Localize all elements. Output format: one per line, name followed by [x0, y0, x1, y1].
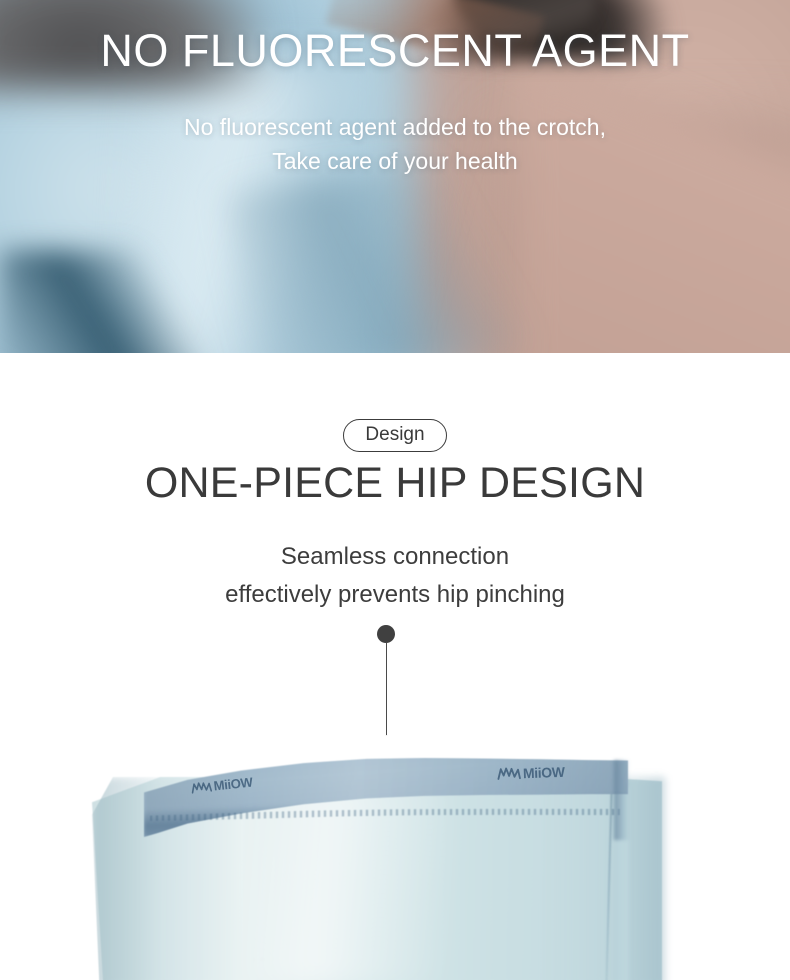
brand-logo-right: MiiOW: [497, 765, 565, 781]
design-subtitle: Seamless connection effectively prevents…: [0, 538, 790, 614]
hero-subtitle: No fluorescent agent added to the crotch…: [0, 110, 790, 178]
design-heading: ONE-PIECE HIP DESIGN: [0, 459, 790, 508]
brand-logo-left-text: MiiOW: [213, 775, 253, 792]
hero-banner: NO FLUORESCENT AGENT No fluorescent agen…: [0, 0, 790, 353]
garment-waistband-right-edge: [614, 760, 630, 840]
hero-title: NO FLUORESCENT AGENT: [0, 27, 790, 76]
miiow-cat-mark-icon: [190, 780, 212, 794]
product-photo: [0, 735, 790, 980]
brand-logo-right-text: MiiOW: [523, 765, 565, 780]
miiow-cat-mark-icon: [497, 766, 521, 781]
design-subtitle-line-2: effectively prevents hip pinching: [0, 576, 790, 614]
garment-shadow-right: [540, 777, 665, 980]
photo-layer-fabric-crease: [0, 250, 200, 353]
design-badge-wrap: Design: [0, 419, 790, 452]
design-badge: Design: [343, 419, 446, 452]
callout-dot-icon: [377, 625, 395, 643]
hero-subtitle-line-2: Take care of your health: [0, 144, 790, 178]
product-detail-page: NO FLUORESCENT AGENT No fluorescent agen…: [0, 0, 790, 980]
hero-subtitle-line-1: No fluorescent agent added to the crotch…: [0, 110, 790, 144]
design-section: Design ONE-PIECE HIP DESIGN Seamless con…: [0, 353, 790, 638]
design-subtitle-line-1: Seamless connection: [0, 538, 790, 576]
